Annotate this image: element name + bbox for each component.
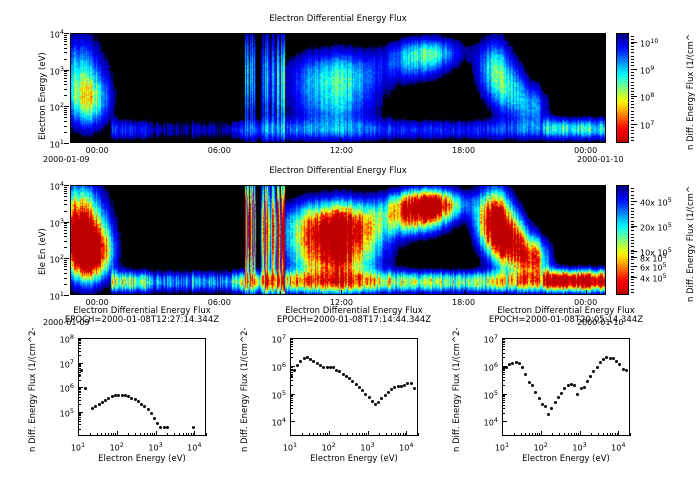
data-point (531, 384, 534, 387)
spectrum-x-minor-tick (391, 433, 392, 436)
y-minor-tick (64, 262, 67, 263)
spectrum-x-minor-tick (598, 433, 599, 436)
spectrum-x-tick-label: 103 (354, 441, 382, 453)
colorbar-minor-tick (631, 107, 634, 108)
colorbar-minor-tick (631, 266, 634, 267)
spectrum-x-tick-label: 101 (64, 441, 92, 453)
colorbar-minor-tick (631, 111, 634, 112)
mid-panel-title: Electron Differential Energy Flux (70, 166, 606, 176)
spectrum-y-minor-tick (78, 348, 81, 349)
y-minor-tick (64, 132, 67, 133)
y-minor-tick (64, 247, 67, 248)
spectrum-x-minor-tick (179, 433, 180, 436)
spectrum-x-tick-label: 104 (604, 441, 632, 453)
colorbar-minor-tick (631, 117, 634, 118)
y-minor-tick (64, 189, 67, 190)
spectrum-y-minor-tick (78, 413, 81, 414)
top-spectrogram-plot[interactable] (70, 33, 606, 143)
colorbar-minor-tick (631, 137, 634, 138)
y-minor-tick (64, 266, 67, 267)
spectrum-x-tick-label: 102 (527, 441, 555, 453)
y-minor-tick (64, 264, 67, 265)
spectrum-y-minor-tick (502, 342, 505, 343)
data-point (554, 401, 557, 404)
x-minor-tick (565, 292, 566, 295)
y-minor-tick (64, 73, 67, 74)
spectrum-x-minor-tick (356, 433, 357, 436)
colorbar-tick-label: 20x 105 (640, 221, 672, 233)
colorbar-minor-tick (631, 65, 634, 66)
x-minor-tick (280, 140, 281, 143)
y-minor-tick (64, 225, 67, 226)
y-minor-tick (64, 193, 67, 194)
spectrum-epoch: EPOCH=2000-01-08T20:05:14.344Z (436, 315, 696, 325)
spectrum-y-minor-tick (502, 380, 505, 381)
spectrum-x-minor-tick (395, 433, 396, 436)
spectrum-y-tick-label: 106 (472, 361, 498, 373)
top-spectrogram-canvas (71, 34, 606, 143)
colorbar-minor-tick (631, 198, 634, 199)
data-point (573, 384, 576, 387)
data-point (361, 389, 364, 392)
colorbar-minor-tick (631, 82, 634, 83)
data-point (117, 394, 120, 397)
spectrum-x-minor-tick (101, 433, 102, 436)
spectrum-x-minor-tick (576, 433, 577, 436)
x-tick-mark (586, 138, 587, 143)
y-minor-tick (64, 233, 67, 234)
y-minor-tick (64, 81, 67, 82)
y-minor-tick (64, 71, 67, 72)
colorbar-minor-tick (631, 211, 634, 212)
y-minor-tick (64, 39, 67, 40)
x-tick-label: 18:00 (448, 146, 480, 155)
spectrum-y-minor-tick (502, 396, 505, 397)
colorbar-minor-tick (631, 98, 634, 99)
colorbar-minor-tick (631, 272, 634, 273)
x-minor-tick (423, 292, 424, 295)
spectrum-x-minor-tick (186, 433, 187, 436)
spectrum-x-minor-tick (167, 433, 168, 436)
colorbar-minor-tick (631, 279, 634, 280)
colorbar-minor-tick (631, 201, 634, 202)
spectrum-x-minor-tick (154, 433, 155, 436)
spectrum-y-minor-tick (78, 364, 81, 365)
y-minor-tick (64, 89, 67, 90)
spectrum-x-minor-tick (352, 433, 353, 436)
data-point (384, 394, 387, 397)
colorbar-minor-tick (631, 39, 634, 40)
colorbar-minor-tick (631, 43, 634, 44)
data-point (586, 380, 589, 383)
data-point (521, 366, 524, 369)
x-minor-tick (423, 140, 424, 143)
mid-colorbar (616, 185, 629, 295)
colorbar-minor-tick (631, 217, 634, 218)
spectrum-x-tick-label: 101 (488, 441, 516, 453)
data-point (293, 369, 296, 372)
colorbar-minor-tick (631, 133, 634, 134)
spectrum-x-minor-tick (564, 433, 565, 436)
data-point (387, 391, 390, 394)
spectrum-x-minor-tick (193, 433, 194, 436)
y-minor-tick (64, 52, 67, 53)
spectrum-y-minor-tick (502, 357, 505, 358)
x-minor-tick (260, 292, 261, 295)
colorbar-minor-tick (631, 269, 634, 270)
spectrum-x-minor-tick (521, 433, 522, 436)
x-tick-mark (586, 290, 587, 295)
data-point (511, 362, 514, 365)
x-minor-tick (179, 292, 180, 295)
y-minor-tick (64, 230, 67, 231)
x-minor-tick (301, 140, 302, 143)
colorbar-tick-label: 4x 105 (640, 272, 667, 284)
data-point (371, 400, 374, 403)
y-minor-tick (64, 191, 67, 192)
data-point (538, 397, 541, 400)
data-point (625, 369, 628, 372)
colorbar-minor-tick (631, 221, 634, 222)
spectrum-y-tick-label: 107 (472, 333, 498, 345)
x-tick-mark (219, 138, 220, 143)
spectrum-y-minor-tick (78, 388, 81, 389)
colorbar-minor-tick (631, 101, 634, 102)
spectrum-x-minor-tick (591, 433, 592, 436)
x-minor-tick (77, 140, 78, 143)
spectrum-y-minor-tick (502, 395, 505, 396)
colorbar-minor-tick (631, 276, 634, 277)
y-minor-tick (64, 117, 67, 118)
x-minor-tick (240, 292, 241, 295)
y-minor-tick (64, 260, 67, 261)
colorbar-minor-tick (631, 259, 634, 260)
colorbar-minor-tick (631, 62, 634, 63)
y-minor-tick (64, 112, 67, 113)
spectrum-y-tick-mark (502, 421, 507, 422)
spectrum-x-minor-tick (615, 433, 616, 436)
spectrum-x-minor-tick (418, 433, 419, 436)
colorbar-tick-mark (631, 251, 637, 252)
y-minor-tick (64, 187, 67, 188)
spectrum-x-minor-tick (152, 433, 153, 436)
x-minor-tick (565, 140, 566, 143)
spectrum-x-minor-tick (302, 433, 303, 436)
spectrum-y-minor-tick (502, 405, 505, 406)
x-minor-tick (382, 292, 383, 295)
spectrum-x-minor-tick (607, 433, 608, 436)
colorbar-minor-tick (631, 85, 634, 86)
colorbar-tick-mark (631, 257, 637, 258)
spectrum-x-tick-mark (194, 431, 195, 436)
spectrum-y-minor-tick (78, 415, 81, 416)
spectrum-y-minor-tick (78, 380, 81, 381)
spectrum-x-minor-tick (364, 433, 365, 436)
spectrum-y-minor-tick (502, 374, 505, 375)
y-minor-tick (64, 236, 67, 237)
top-colorbar-label: n Diff. Energy Flux (1/(cm^ (686, 34, 696, 150)
colorbar-minor-tick (631, 88, 634, 89)
colorbar-minor-tick (631, 250, 634, 251)
spectrum-x-tick-mark (78, 431, 79, 436)
y-tick-label: 102 (38, 101, 64, 113)
x-minor-tick (301, 292, 302, 295)
x-minor-tick (525, 140, 526, 143)
x-tick-label: 12:00 (325, 146, 357, 155)
spectrum-y-minor-tick (78, 366, 81, 367)
x-minor-tick (484, 140, 485, 143)
spectrum-x-minor-tick (532, 433, 533, 436)
spectrum-x-minor-tick (108, 433, 109, 436)
spectrum-x-minor-tick (362, 433, 363, 436)
colorbar-minor-tick (631, 46, 634, 47)
spectrum-y-minor-tick (78, 345, 81, 346)
spectrum-y-minor-tick (78, 355, 81, 356)
spectrum-y-tick-label: 105 (472, 389, 498, 401)
y-tick-label: 103 (38, 65, 64, 77)
y-tick-mark (64, 295, 69, 296)
spectrum-y-minor-tick (78, 404, 81, 405)
mid-panel-ylabel: Ele En (eV) (38, 228, 48, 275)
x-minor-tick (362, 140, 363, 143)
colorbar-minor-tick (631, 253, 634, 254)
spectrum-y-tick-label: 104 (472, 416, 498, 428)
colorbar-minor-tick (631, 208, 634, 209)
x-minor-tick (117, 140, 118, 143)
spectrum-y-minor-tick (502, 349, 505, 350)
colorbar-minor-tick (631, 191, 634, 192)
data-point (505, 366, 508, 369)
spectrum-x-minor-tick (313, 433, 314, 436)
x-minor-tick (504, 292, 505, 295)
spectrum-y-minor-tick (78, 365, 81, 366)
colorbar-minor-tick (631, 188, 634, 189)
colorbar-minor-tick (631, 49, 634, 50)
colorbar-minor-tick (631, 256, 634, 257)
spectrum-x-minor-tick (183, 433, 184, 436)
spectrum-y-minor-tick (78, 400, 81, 401)
colorbar-minor-tick (631, 130, 634, 131)
data-point (528, 381, 531, 384)
spectrum-ylabel-wrap: n Diff. Energy Flux (1/(cm^2- (452, 452, 577, 462)
spectrum-y-minor-tick (290, 349, 293, 350)
spectrum-x-minor-tick (325, 433, 326, 436)
spectrum-y-minor-tick (78, 392, 81, 393)
spectrum-plot[interactable] (78, 338, 206, 436)
spectrum-ylabel: n Diff. Energy Flux (1/(cm^2- (28, 327, 38, 452)
spectrum-x-minor-tick (386, 433, 387, 436)
colorbar-minor-tick (631, 78, 634, 79)
top-panel-date-left: 2000-01-09 (43, 155, 90, 164)
spectrum-x-minor-tick (568, 433, 569, 436)
x-minor-tick (158, 292, 159, 295)
spectrum-y-minor-tick (78, 394, 81, 395)
spectrum-x-tick-mark (406, 431, 407, 436)
y-minor-tick (64, 37, 67, 38)
y-minor-tick (64, 227, 67, 228)
spectrum-y-minor-tick (78, 419, 81, 420)
spectrum-x-minor-tick (188, 433, 189, 436)
spectrum-y-minor-tick (78, 424, 81, 425)
spectrum-x-minor-tick (537, 433, 538, 436)
spectrum-x-minor-tick (327, 433, 328, 436)
spectrum-x-tick-label: 101 (276, 441, 304, 453)
y-minor-tick (64, 78, 67, 79)
y-tick-label: 101 (38, 138, 64, 150)
y-minor-tick (64, 241, 67, 242)
spectrum-y-tick-mark (290, 421, 295, 422)
x-tick-mark (219, 290, 220, 295)
spectrum-y-minor-tick (290, 385, 293, 386)
spectrum-y-minor-tick (502, 402, 505, 403)
y-minor-tick (64, 95, 67, 96)
colorbar-minor-tick (631, 289, 634, 290)
colorbar-minor-tick (631, 263, 634, 264)
spectrum-y-minor-tick (78, 343, 81, 344)
spectrum-y-tick-label: 107 (48, 358, 74, 370)
spectrum-x-minor-tick (366, 433, 367, 436)
spectrum-y-tick-label: 107 (260, 333, 286, 345)
spectrum-y-minor-tick (78, 397, 81, 398)
spectrum-x-minor-tick (323, 433, 324, 436)
spectrum-x-minor-tick (317, 433, 318, 436)
spectrum-x-minor-tick (347, 433, 348, 436)
spectrum-x-minor-tick (174, 433, 175, 436)
x-minor-tick (443, 292, 444, 295)
x-minor-tick (545, 292, 546, 295)
spectrum-y-minor-tick (78, 340, 81, 341)
spectrum-x-minor-tick (105, 433, 106, 436)
spectrum-x-minor-tick (400, 433, 401, 436)
data-point (544, 405, 547, 408)
colorbar-minor-tick (631, 204, 634, 205)
data-point (322, 366, 325, 369)
spectrum-x-minor-tick (525, 433, 526, 436)
y-minor-tick (64, 278, 67, 279)
y-minor-tick (64, 204, 67, 205)
y-minor-tick (64, 114, 67, 115)
colorbar-minor-tick (631, 227, 634, 228)
spectrum-x-minor-tick (206, 433, 207, 436)
spectrum-x-minor-tick (539, 433, 540, 436)
spectrum-y-minor-tick (290, 398, 293, 399)
spectrum-x-minor-tick (403, 433, 404, 436)
x-minor-tick (179, 140, 180, 143)
y-minor-tick (64, 84, 67, 85)
spectrum-y-minor-tick (290, 402, 293, 403)
spectrum-x-tick-mark (541, 431, 542, 436)
spectrum-y-minor-tick (502, 400, 505, 401)
spectrum-x-tick-label: 102 (315, 441, 343, 453)
data-point (596, 366, 599, 369)
spectrum-x-minor-tick (97, 433, 98, 436)
spectrum-y-minor-tick (290, 357, 293, 358)
spectrum-y-minor-tick (78, 389, 81, 390)
spectrum-y-minor-tick (502, 385, 505, 386)
colorbar-minor-tick (631, 237, 634, 238)
spectrum-x-minor-tick (559, 433, 560, 436)
y-tick-label: 103 (38, 217, 64, 229)
data-point (84, 387, 87, 390)
data-point (355, 383, 358, 386)
spectrum-y-minor-tick (78, 417, 81, 418)
colorbar-minor-tick (631, 75, 634, 76)
spectrum-x-minor-tick (128, 433, 129, 436)
x-minor-tick (402, 292, 403, 295)
spectrum-x-minor-tick (144, 433, 145, 436)
colorbar-minor-tick (631, 234, 634, 235)
spectrum-y-minor-tick (290, 372, 293, 373)
spectrum-y-tick-label: 105 (48, 407, 74, 419)
spectrum-x-minor-tick (90, 433, 91, 436)
spectrum-x-minor-tick (612, 433, 613, 436)
x-minor-tick (77, 292, 78, 295)
spectrum-x-minor-tick (115, 433, 116, 436)
y-minor-tick (64, 75, 67, 76)
spectrum-x-tick-mark (329, 431, 330, 436)
colorbar-minor-tick (631, 36, 634, 37)
spectrum-y-tick-label: 105 (260, 389, 286, 401)
colorbar-tick-label: 107 (640, 119, 654, 131)
mid-spectrogram-canvas (71, 186, 606, 295)
colorbar-minor-tick (631, 56, 634, 57)
y-tick-label: 102 (38, 253, 64, 265)
colorbar-minor-tick (631, 91, 634, 92)
spectrum-x-minor-tick (552, 433, 553, 436)
data-point (358, 386, 361, 389)
y-minor-tick (64, 35, 67, 36)
spectrum-y-minor-tick (290, 339, 293, 340)
colorbar-tick-label: 109 (640, 64, 654, 76)
spectrum-ylabel: n Diff. Energy Flux (1/(cm^2- (240, 327, 250, 452)
spectrum-y-minor-tick (290, 395, 293, 396)
data-point (524, 373, 527, 376)
spectrum-y-minor-tick (502, 413, 505, 414)
spectrum-y-minor-tick (290, 346, 293, 347)
x-tick-label: 06:00 (203, 146, 235, 155)
x-minor-tick (240, 140, 241, 143)
y-minor-tick (64, 284, 67, 285)
y-minor-tick (64, 273, 67, 274)
y-minor-tick (64, 196, 67, 197)
colorbar-tick-label: 1010 (640, 37, 658, 49)
y-minor-tick (64, 211, 67, 212)
spectrum-plot[interactable] (502, 338, 630, 436)
spectrum-x-minor-tick (320, 433, 321, 436)
spectrum-x-minor-tick (340, 433, 341, 436)
spectrum-y-minor-tick (290, 396, 293, 397)
spectrum-y-minor-tick (502, 408, 505, 409)
mid-spectrogram-plot[interactable] (70, 185, 606, 295)
top-colorbar-label-wrap: n Diff. Energy Flux (1/(cm^ (686, 150, 697, 160)
spectrum-x-minor-tick (610, 433, 611, 436)
y-minor-tick (64, 48, 67, 49)
colorbar-minor-tick (631, 52, 634, 53)
spectrum-y-minor-tick (78, 414, 81, 415)
x-minor-tick (117, 292, 118, 295)
x-minor-tick (199, 292, 200, 295)
data-point (410, 382, 413, 385)
spectrum-y-tick-label: 108 (48, 333, 74, 345)
spectrum-x-minor-tick (630, 433, 631, 436)
spectrum-x-minor-tick (309, 433, 310, 436)
spectrum-y-minor-tick (502, 344, 505, 345)
x-tick-label: 00:00 (81, 146, 113, 155)
y-minor-tick (64, 269, 67, 270)
spectrum-x-minor-tick (529, 433, 530, 436)
spectrum-x-tick-mark (580, 431, 581, 436)
spectrum-y-minor-tick (502, 372, 505, 373)
